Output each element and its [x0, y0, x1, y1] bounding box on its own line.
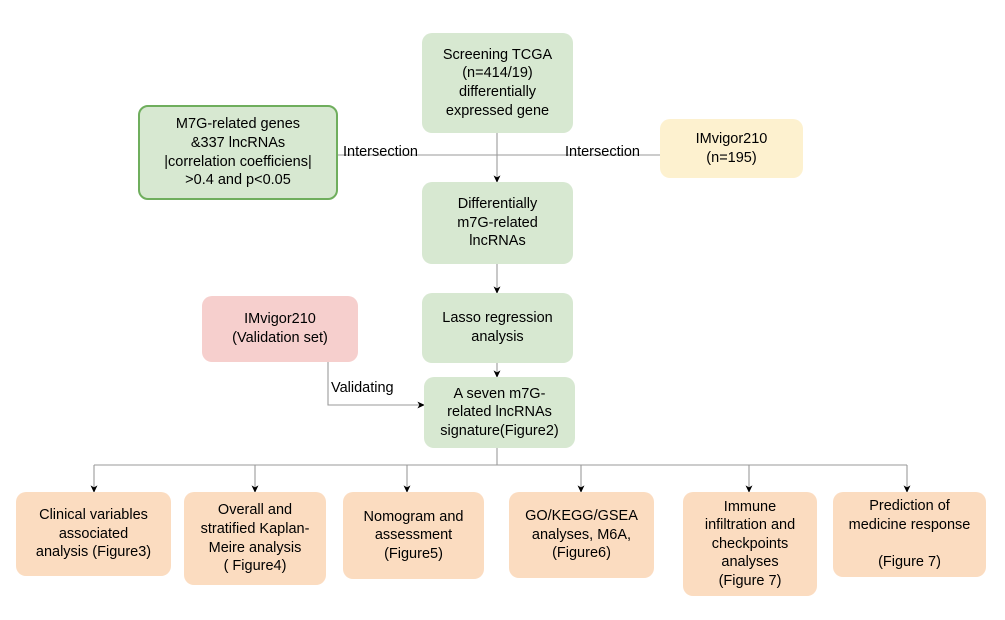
edge-label-intersection-left: Intersection — [343, 144, 418, 160]
node-differentially-lncrnas[interactable]: Differentially m7G-related lncRNAs — [422, 182, 573, 264]
flowchart-canvas: Screening TCGA (n=414/19) differentially… — [0, 0, 1005, 620]
node-seven-signature[interactable]: A seven m7G- related lncRNAs signature(F… — [424, 377, 575, 448]
output-box-medicine-response[interactable]: Prediction of medicine response (Figure … — [833, 492, 986, 577]
output-box-clinical-variables[interactable]: Clinical variables associated analysis (… — [16, 492, 171, 576]
output-box-nomogram[interactable]: Nomogram and assessment (Figure5) — [343, 492, 484, 579]
node-lasso-regression[interactable]: Lasso regression analysis — [422, 293, 573, 363]
edge-label-validating: Validating — [331, 380, 394, 396]
edge-label-intersection-right: Intersection — [565, 144, 640, 160]
output-box-immune-infiltration[interactable]: Immune infiltration and checkpoints anal… — [683, 492, 817, 596]
node-imvigor210-top[interactable]: IMvigor210 (n=195) — [660, 119, 803, 178]
node-screening-tcga[interactable]: Screening TCGA (n=414/19) differentially… — [422, 33, 573, 133]
node-imvigor210-validation[interactable]: IMvigor210 (Validation set) — [202, 296, 358, 362]
node-m7g-related-genes[interactable]: M7G-related genes &337 lncRNAs |correlat… — [138, 105, 338, 200]
output-box-go-kegg-gsea[interactable]: GO/KEGG/GSEA analyses, M6A, (Figure6) — [509, 492, 654, 578]
output-box-kaplan-meier[interactable]: Overall and stratified Kaplan- Meire ana… — [184, 492, 326, 585]
